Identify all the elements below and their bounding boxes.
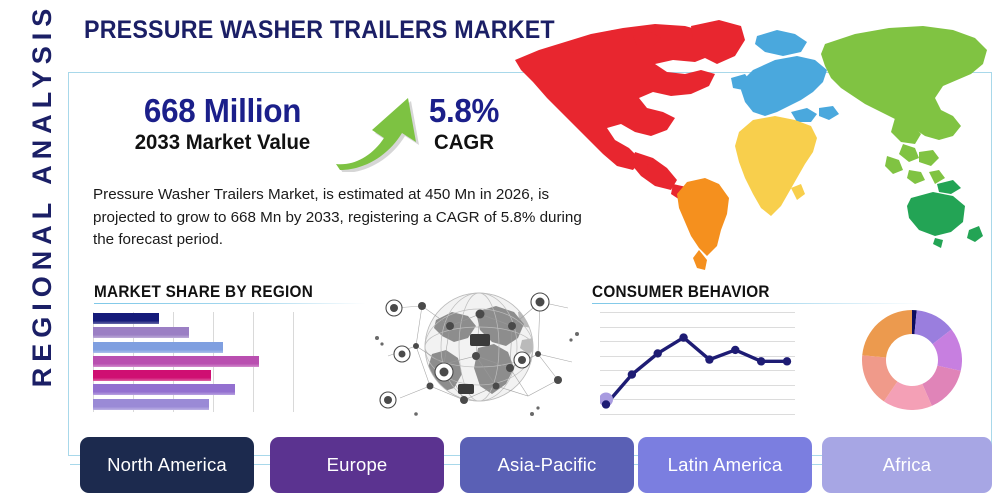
- bar-row: [93, 342, 223, 353]
- bar-row: [93, 313, 159, 324]
- map-region-north-america: [515, 20, 745, 204]
- region-pill-north-america[interactable]: North America: [80, 437, 254, 493]
- kpi-row: 668 Million 2033 Market Value 5.8% CAGR: [110, 92, 530, 170]
- region-pill-label: Asia-Pacific: [497, 454, 596, 476]
- map-region-asia: [821, 26, 987, 184]
- bar: [93, 399, 209, 410]
- cagr-number: 5.8%: [401, 92, 526, 130]
- bar-row: [93, 327, 189, 338]
- bar-row: [93, 356, 259, 367]
- line-marker: [783, 357, 791, 365]
- line-marker: [628, 370, 636, 378]
- line-marker: [757, 357, 765, 365]
- bar: [93, 384, 235, 395]
- bar-row: [93, 370, 211, 381]
- map-region-europe: [731, 30, 839, 122]
- region-pill-europe[interactable]: Europe: [270, 437, 444, 493]
- market-share-bar-chart: [93, 312, 293, 412]
- consumer-behavior-line-chart: [600, 312, 795, 414]
- line-marker: [679, 333, 687, 341]
- bar: [93, 313, 159, 324]
- cagr-kpi: 5.8% CAGR: [398, 92, 530, 155]
- line-marker: [731, 346, 739, 354]
- description-text: Pressure Washer Trailers Market, is esti…: [93, 184, 593, 252]
- region-pill-row: North AmericaEuropeAsia-PacificLatin Ame…: [80, 437, 992, 493]
- map-region-africa: [735, 116, 817, 216]
- bar: [93, 342, 223, 353]
- market-value-number: 668 Million: [116, 92, 330, 130]
- side-vertical-label: REGIONAL ANALYSIS: [20, 0, 64, 395]
- map-region-oceania: [907, 180, 983, 248]
- bar-gridline: [293, 312, 294, 412]
- consumer-behavior-section-title: CONSUMER BEHAVIOR: [592, 282, 770, 302]
- bar: [93, 356, 259, 367]
- bar: [93, 370, 211, 381]
- region-pill-label: North America: [107, 454, 227, 476]
- region-pill-label: Latin America: [668, 454, 783, 476]
- market-value-label: 2033 Market Value: [113, 131, 331, 155]
- region-pill-asia-pacific[interactable]: Asia-Pacific: [460, 437, 634, 493]
- market-value-kpi: 668 Million 2033 Market Value: [110, 92, 335, 155]
- cagr-label: CAGR: [400, 131, 528, 155]
- consumer-behavior-underline: [592, 303, 922, 304]
- region-pill-label: Africa: [883, 454, 932, 476]
- consumer-behavior-donut-chart: [862, 310, 962, 410]
- page-title: PRESSURE WASHER TRAILERS MARKET: [84, 16, 555, 45]
- line-series: [600, 312, 795, 414]
- bar-row: [93, 384, 235, 395]
- bar: [93, 327, 189, 338]
- market-share-section-title: MARKET SHARE BY REGION: [94, 282, 313, 302]
- line-marker: [602, 400, 610, 408]
- global-network-globe-icon: [372, 268, 587, 426]
- donut-segment: [862, 310, 912, 358]
- region-pill-label: Europe: [327, 454, 388, 476]
- line-marker: [654, 349, 662, 357]
- line-gridline: [600, 414, 795, 415]
- bar-row: [93, 399, 209, 410]
- map-region-south-america: [677, 178, 729, 270]
- donut-segments: [862, 310, 962, 410]
- region-pill-africa[interactable]: Africa: [822, 437, 992, 493]
- region-pill-latin-america[interactable]: Latin America: [638, 437, 812, 493]
- market-share-underline: [94, 303, 366, 304]
- line-marker: [705, 355, 713, 363]
